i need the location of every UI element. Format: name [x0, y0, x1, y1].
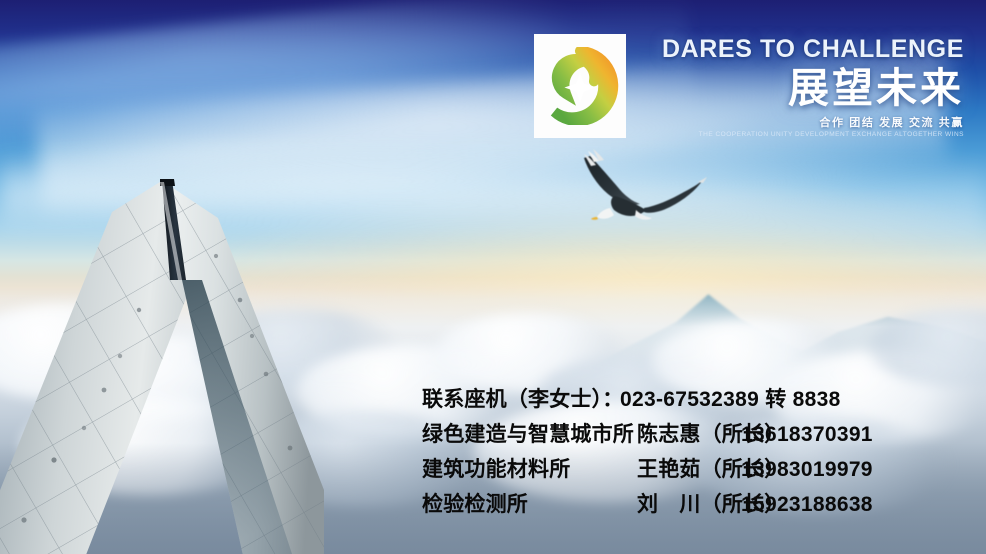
concrete-arch-structure: [0, 160, 334, 554]
contact-row: 建筑功能材料所 王艳茹（所长） 13983019979: [422, 453, 972, 488]
contact-department: 检验检测所: [422, 488, 637, 518]
contact-label: 联系座机（李女士）：: [422, 383, 620, 413]
brand-headline: DARES TO CHALLENGE 展望未来 合作 团结 发展 交流 共赢 T…: [624, 36, 964, 138]
slogan-chinese: 合作 团结 发展 交流 共赢: [624, 114, 964, 130]
contact-row-main-line: 联系座机（李女士）： 023-67532389 转 8838: [422, 383, 972, 418]
presentation-slide: DARES TO CHALLENGE 展望未来 合作 团结 发展 交流 共赢 T…: [0, 0, 986, 554]
contact-phone: 15923188638: [741, 493, 873, 517]
flying-eagle-illustration: [552, 148, 712, 240]
contact-department: 建筑功能材料所: [422, 453, 637, 483]
contact-department: 绿色建造与智慧城市所: [422, 418, 637, 448]
swirl-star-logo-icon: [541, 47, 619, 125]
contact-phone: 13983019979: [741, 458, 873, 482]
contact-phone: 13618370391: [741, 423, 873, 447]
contact-row: 检验检测所 刘 川（所长） 15923188638: [422, 488, 972, 523]
contact-list: 联系座机（李女士）： 023-67532389 转 8838 绿色建造与智慧城市…: [422, 383, 972, 523]
contact-phone: 023-67532389 转 8838: [620, 383, 841, 413]
brand-logo: [534, 34, 626, 138]
slogan-english: THE COOPERATION UNITY DEVELOPMENT EXCHAN…: [624, 131, 964, 138]
headline-english: DARES TO CHALLENGE: [624, 36, 964, 62]
contact-row: 绿色建造与智慧城市所 陈志惠（所长） 13618370391: [422, 418, 972, 453]
contact-person: 陈志惠（所长）: [637, 418, 741, 448]
headline-chinese: 展望未来: [624, 66, 964, 110]
contact-person: 王艳茹（所长）: [637, 453, 741, 483]
contact-person: 刘 川（所长）: [637, 488, 741, 518]
